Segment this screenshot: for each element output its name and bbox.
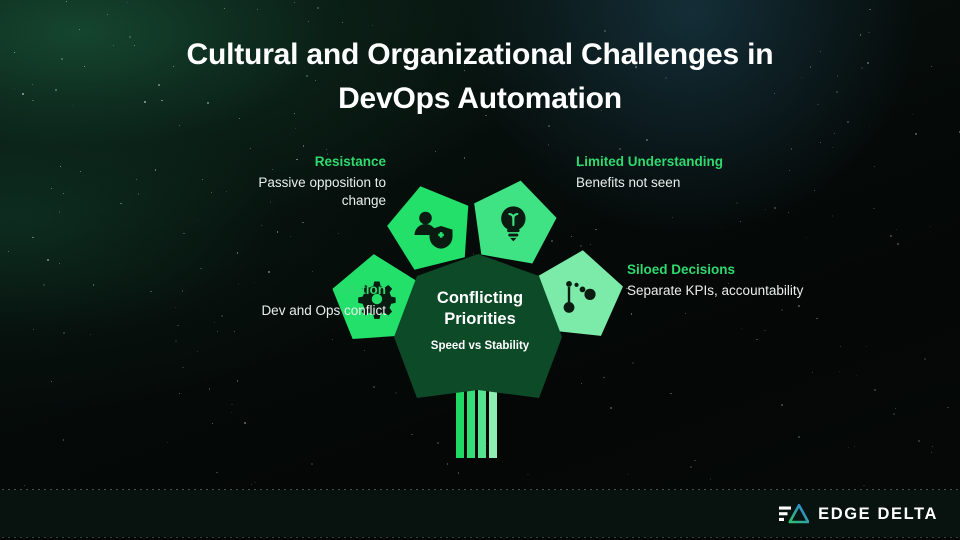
core-title-line-1: Conflicting bbox=[437, 289, 523, 307]
edge-delta-logo[interactable]: EDGE DELTA bbox=[779, 503, 938, 525]
devops-challenges-tree-diagram bbox=[0, 0, 960, 540]
callout-resistance[interactable]: Resistance Passive opposition to change bbox=[238, 153, 386, 209]
tree-trunk bbox=[456, 386, 497, 458]
trunk-stripe-2 bbox=[467, 386, 475, 458]
callout-resistance-title: Resistance bbox=[238, 153, 386, 171]
footer-divider-top bbox=[0, 489, 960, 490]
edge-delta-logo-icon bbox=[779, 503, 809, 525]
core-title-line-2: Priorities bbox=[444, 310, 516, 328]
branch-node-limited-understanding[interactable] bbox=[466, 173, 562, 266]
slide-canvas: Cultural and Organizational Challenges i… bbox=[0, 0, 960, 540]
callout-limited-understanding-title: Limited Understanding bbox=[576, 153, 736, 171]
callout-resistance-description: Passive opposition to change bbox=[238, 174, 386, 210]
trunk-stripe-1 bbox=[456, 386, 464, 458]
trunk-stripe-3 bbox=[478, 386, 486, 458]
callout-friction-description: Dev and Ops conflict bbox=[196, 302, 386, 320]
core-subtitle: Speed vs Stability bbox=[394, 340, 566, 352]
callout-siloed-decisions[interactable]: Siloed Decisions Separate KPIs, accounta… bbox=[627, 261, 807, 300]
callout-limited-understanding[interactable]: Limited Understanding Benefits not seen bbox=[576, 153, 736, 192]
callout-limited-understanding-description: Benefits not seen bbox=[576, 174, 736, 192]
callout-siloed-decisions-title: Siloed Decisions bbox=[627, 261, 807, 279]
edge-delta-logo-text: EDGE DELTA bbox=[818, 505, 938, 524]
footer-divider-bottom bbox=[0, 537, 960, 538]
trunk-stripe-4 bbox=[489, 386, 497, 458]
core-label-group: Conflicting Priorities Speed vs Stabilit… bbox=[394, 288, 566, 352]
callout-friction-title: Friction bbox=[196, 281, 386, 299]
callout-friction[interactable]: Friction Dev and Ops conflict bbox=[196, 281, 386, 320]
callout-siloed-decisions-description: Separate KPIs, accountability bbox=[627, 282, 807, 300]
